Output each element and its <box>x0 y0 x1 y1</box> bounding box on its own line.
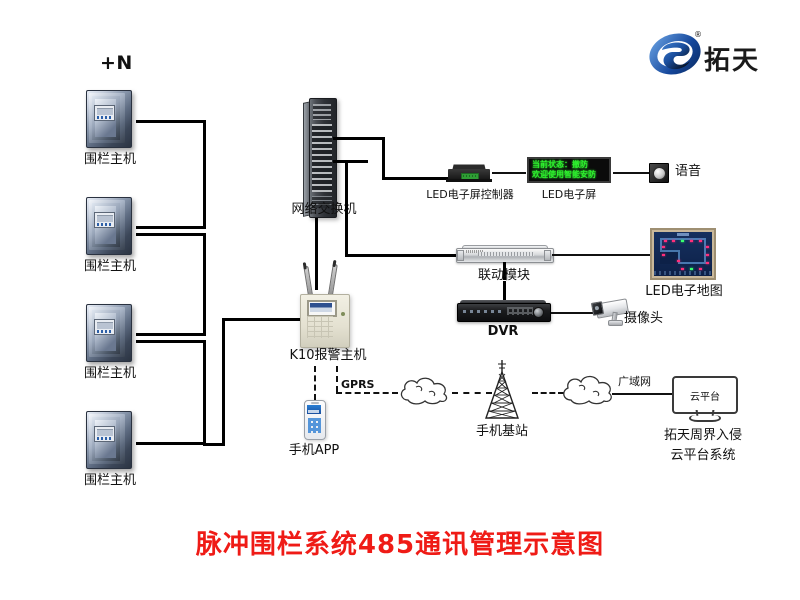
wire-host2b <box>136 233 206 236</box>
wire-switch-out1 <box>333 137 385 140</box>
wire-switch-down2 <box>345 160 348 257</box>
monitor-screen-text: 云平台 <box>690 388 720 403</box>
wire-controller-to-screen <box>492 172 526 174</box>
dvr-label: DVR <box>470 324 536 340</box>
wire-trunk-bottom-join <box>203 443 225 446</box>
fence-host-label: 围栏主机 <box>62 366 158 382</box>
camera-label: 摄像头 <box>624 311 663 327</box>
led-map-icon[interactable] <box>650 228 716 280</box>
dvr-icon[interactable] <box>457 300 549 322</box>
cloud-icon <box>396 374 456 408</box>
wire-wan-to-cloud-platform <box>612 393 674 395</box>
diagram-canvas: ® 拓天 +N 围栏主机 围栏主机 围栏主机 围栏主机 <box>0 0 800 600</box>
cell-tower-icon[interactable] <box>472 360 532 422</box>
page-title: 脉冲围栏系统485通讯管理示意图 <box>0 524 800 561</box>
wire-screen-to-voice <box>613 172 649 174</box>
wire-host3b <box>136 340 206 343</box>
led-screen-icon[interactable]: 当前状态：撤防 欢迎使用智能安防 <box>527 157 611 183</box>
voice-label: 语音 <box>675 164 701 180</box>
cloud-icon <box>558 372 620 408</box>
wan-label: 广域网 <box>618 375 651 389</box>
fence-host-label: 围栏主机 <box>62 152 158 168</box>
fence-host-label: 围栏主机 <box>62 259 158 275</box>
mobile-phone-icon[interactable] <box>304 400 326 440</box>
wire-host4 <box>136 442 206 445</box>
wire-host1 <box>136 120 206 123</box>
fence-host-icon[interactable] <box>82 302 138 364</box>
led-screen-line1: 当前状态：撤防 <box>532 160 606 170</box>
led-controller-label: LED电子屏控制器 <box>406 188 534 202</box>
fence-host-icon[interactable] <box>82 409 138 471</box>
wire-to-linkage <box>345 254 457 257</box>
brand-logo: ® 拓天 <box>648 28 788 80</box>
network-switch-icon[interactable] <box>303 98 343 218</box>
mobile-app-label: 手机APP <box>281 443 347 459</box>
wire-trunk-vertical <box>222 318 225 445</box>
fence-host-label: 围栏主机 <box>62 473 158 489</box>
led-screen-label: LED电子屏 <box>527 188 611 202</box>
gprs-label: GPRS <box>341 378 374 392</box>
plus-n-label: +N <box>100 52 133 74</box>
linkage-module-icon[interactable] <box>456 245 552 263</box>
wire-host3 <box>136 333 206 336</box>
cloud-platform-label-line1: 拓天周界入侵 <box>642 428 764 444</box>
alarm-host-label: K10报警主机 <box>283 348 373 364</box>
wire-switch-out2 <box>333 160 368 163</box>
wire-k10-gprs-down <box>336 366 338 392</box>
cloud-platform-label-line2: 云平台系统 <box>642 448 764 464</box>
brand-name: 拓天 <box>704 40 760 77</box>
wire-bracket2 <box>203 233 206 335</box>
registered-mark: ® <box>694 30 702 39</box>
alarm-host-icon[interactable] <box>296 262 352 350</box>
wire-host2 <box>136 226 206 229</box>
base-station-label: 手机基站 <box>472 424 532 440</box>
wire-k10-gprs-right <box>336 392 398 394</box>
led-map-label: LED电子地图 <box>628 284 740 300</box>
speaker-icon[interactable] <box>649 163 669 183</box>
wire-bracket1 <box>203 120 206 228</box>
wire-switch-down1 <box>382 137 385 180</box>
network-switch-label: 网络交换机 <box>279 202 369 218</box>
fence-host-icon[interactable] <box>82 195 138 257</box>
led-screen-line2: 欢迎使用智能安防 <box>532 170 606 180</box>
monitor-icon[interactable]: 云平台 <box>672 376 734 422</box>
fence-host-icon[interactable] <box>82 88 138 150</box>
wire-bracket3 <box>203 340 206 445</box>
wire-dvr-to-camera <box>551 312 593 314</box>
led-controller-icon[interactable] <box>446 164 492 184</box>
wire-to-led-controller <box>382 177 448 180</box>
wire-k10-to-phone <box>314 366 316 400</box>
wire-linkage-to-map <box>552 254 650 256</box>
